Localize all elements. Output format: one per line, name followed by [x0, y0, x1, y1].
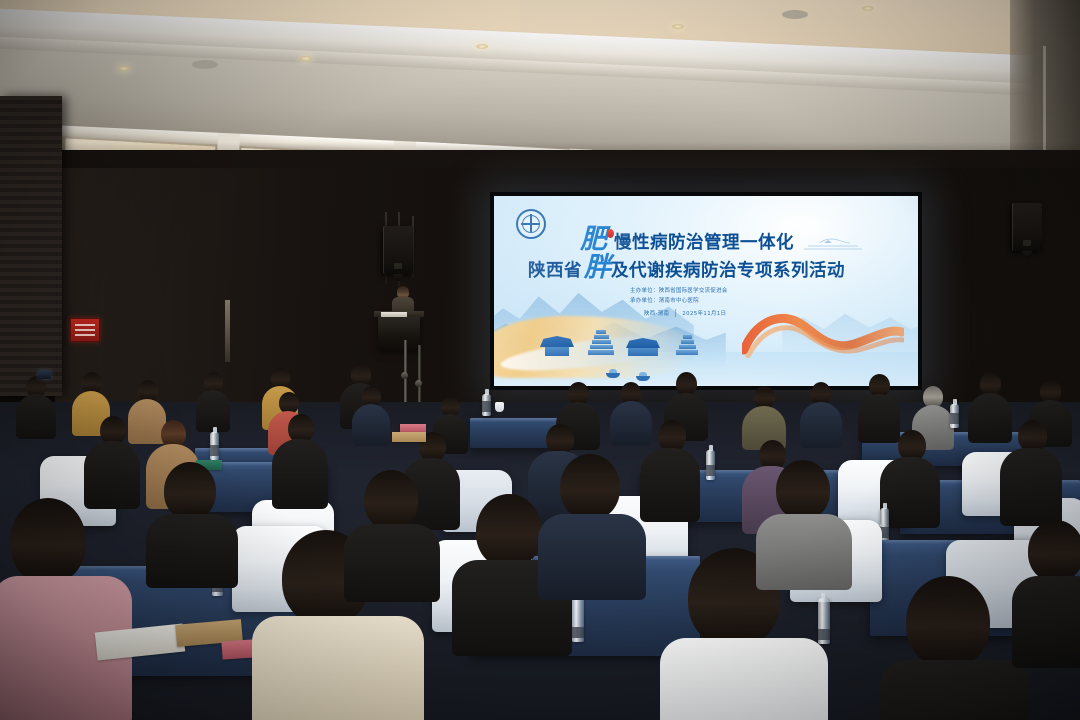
audience-member — [84, 416, 140, 508]
audience-member — [196, 372, 230, 430]
recessed-downlight — [300, 56, 312, 61]
red-accent-dot — [607, 229, 614, 238]
audience-torso — [1012, 576, 1080, 668]
pagoda-tier — [590, 345, 613, 349]
mic-stand-joint — [415, 380, 422, 387]
calligraphy-fei: 肥 — [580, 228, 606, 252]
coorganizer-label: 承办单位： — [630, 298, 659, 304]
audience-member-foreground — [756, 460, 852, 576]
pagoda-tier — [594, 335, 609, 339]
audience-torso — [146, 514, 238, 588]
audience-member-foreground — [344, 470, 440, 588]
notepad — [392, 432, 426, 442]
pagoda-tier — [592, 340, 611, 344]
audience-torso — [538, 514, 646, 600]
tea-cup — [495, 402, 504, 412]
audience-member-photographing — [16, 370, 56, 436]
headline-line-2: 及代谢疾病防治专项系列活动 — [611, 263, 845, 281]
podium-notes — [381, 312, 407, 317]
bottle-label — [950, 413, 959, 424]
location-date-bar: 陕西·渭南 2025年11月1日 — [644, 309, 726, 317]
bottle-label — [572, 627, 584, 638]
bottle-label — [482, 401, 491, 412]
wall-accent-light — [225, 300, 230, 362]
smartphone-recording[interactable] — [38, 370, 51, 379]
event-location: 陕西·渭南 — [644, 309, 669, 317]
audience-head — [364, 470, 418, 530]
audience-member — [1000, 420, 1062, 524]
audience-member-foreground — [146, 462, 238, 574]
recessed-downlight — [476, 44, 488, 49]
audience-torso — [272, 439, 328, 509]
audience-torso — [640, 448, 700, 522]
audience-head — [560, 454, 620, 520]
landmark-roof — [626, 338, 660, 348]
headline-row-2: 陕西省 胖 及代谢疾病防治专项系列活动 — [528, 256, 896, 280]
audience-member-foreground — [1012, 520, 1080, 656]
bottle-label — [706, 465, 715, 476]
conference-photo: 肥 慢性病防治管理一体化 陕西省 胖 及代谢疾病防治专项系列活动 — [0, 0, 1080, 720]
landmark-pagoda-small-wild-goose — [676, 335, 698, 356]
pagoda-tier — [676, 350, 698, 355]
coorganizer-value: 渭南市中心医院 — [659, 298, 699, 304]
recessed-downlight — [118, 66, 130, 71]
wall-speaker-left — [383, 226, 413, 274]
sprinkler-head — [192, 60, 218, 69]
audience-member — [352, 386, 390, 444]
landmark-body — [545, 347, 569, 356]
audience-head — [776, 460, 830, 520]
headline-line-1: 慢性病防治管理一体化 — [614, 235, 794, 253]
landmark-roof — [540, 336, 574, 347]
audience-member-foreground — [880, 576, 1030, 720]
audience-head — [1028, 520, 1080, 582]
led-screen-frame: 肥 慢性病防治管理一体化 陕西省 胖 及代谢疾病防治专项系列活动 — [490, 192, 922, 390]
landmark-body — [628, 348, 658, 356]
audience-torso — [352, 404, 390, 446]
audience-head — [164, 462, 216, 520]
audience-head — [476, 494, 542, 568]
led-screen[interactable]: 肥 慢性病防治管理一体化 陕西省 胖 及代谢疾病防治专项系列活动 — [494, 196, 918, 386]
landmark-hall-2 — [626, 338, 660, 356]
audience-torso — [344, 524, 440, 602]
pagoda-tier — [681, 340, 694, 344]
speaking-podium — [378, 316, 420, 350]
water-bottle — [210, 432, 219, 460]
decorative-skyline-line — [802, 238, 864, 252]
audience-torso — [196, 390, 230, 432]
audience-member — [800, 382, 842, 446]
wall-slat-column — [0, 96, 62, 396]
audience-torso — [756, 514, 852, 590]
audience-member-foreground — [0, 498, 132, 720]
pagoda-tier — [588, 350, 614, 355]
bottle-label — [210, 445, 219, 456]
province-prefix: 陕西省 — [528, 263, 582, 281]
pagoda-tier — [679, 345, 696, 349]
headline-row-1: 肥 慢性病防治管理一体化 — [580, 228, 896, 252]
water-bottle — [950, 404, 959, 428]
audience-torso — [660, 638, 828, 720]
audience-member-foreground — [538, 454, 646, 586]
screen-headline-block: 肥 慢性病防治管理一体化 陕西省 胖 及代谢疾病防治专项系列活动 — [528, 228, 896, 281]
landmark-pagoda-big-wild-goose — [588, 330, 614, 356]
audience-torso — [16, 394, 56, 439]
audience-torso — [800, 402, 842, 448]
sign-text-glyphs — [75, 324, 95, 337]
water-bottle — [482, 394, 491, 416]
audience-torso — [1000, 448, 1062, 526]
water-bottle — [706, 450, 715, 480]
audience-torso — [252, 616, 424, 720]
yellow-river-ribbon — [742, 310, 904, 358]
pagoda-tier — [596, 330, 606, 334]
sprinkler-head — [782, 10, 808, 19]
recessed-downlight — [672, 24, 684, 29]
audience-head — [906, 576, 990, 668]
landmark-hall-1 — [540, 336, 574, 356]
host-value: 陕西省国际医学交流促进会 — [659, 288, 728, 294]
pagoda-tier — [683, 335, 692, 339]
coorganizer-line: 承办单位：渭南市中心医院 — [630, 296, 728, 306]
audience-head — [10, 498, 86, 584]
audience-member — [880, 430, 940, 526]
mic-stand-joint — [401, 372, 408, 379]
audience-torso — [880, 660, 1030, 720]
emergency-notice-sign — [70, 318, 100, 342]
event-date: 2025年11月1日 — [682, 309, 726, 317]
divider — [675, 309, 676, 317]
organizer-credits: 主办单位：陕西省国际医学交流促进会 承办单位：渭南市中心医院 — [630, 286, 728, 306]
audience-member — [640, 420, 700, 520]
host-line: 主办单位：陕西省国际医学交流促进会 — [630, 286, 728, 296]
audience-torso — [880, 457, 940, 528]
wall-speaker-right — [1012, 203, 1042, 251]
calligraphy-pang: 胖 — [584, 256, 610, 280]
audience-member — [272, 414, 328, 508]
host-label: 主办单位： — [630, 288, 659, 294]
audience-member — [742, 386, 786, 448]
recessed-downlight — [862, 6, 874, 11]
